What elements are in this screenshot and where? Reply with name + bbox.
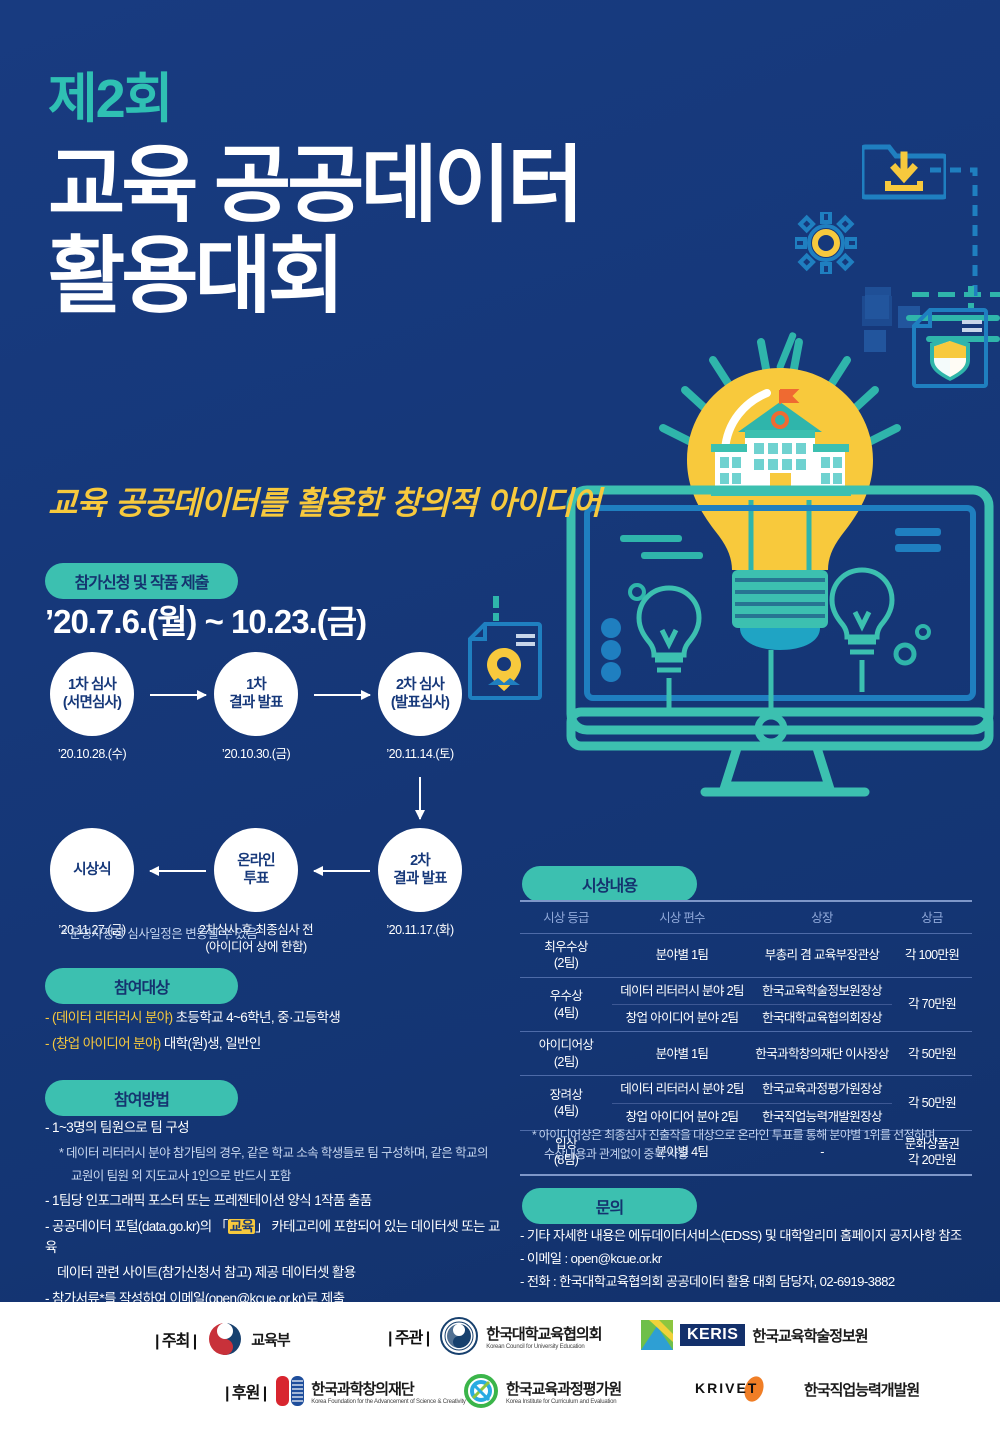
node-label-secondary: (서면심사) — [63, 694, 121, 712]
cell-grade: 최우수상 (2팀) — [520, 934, 612, 978]
contact-badge: 문의 — [522, 1188, 697, 1224]
schedule-node-6: 시상식 — [50, 828, 134, 912]
footer-row-2: | 후원 | 한국과학창의재단 Korea Foundation for the… — [225, 1374, 466, 1408]
table-row: 아이디어상 (2팀) 분야별 1팀 한국과학창의재단 이사장상 각 50만원 — [520, 1032, 972, 1076]
schedule-node-3: 2차 심사 (발표심사) — [378, 652, 462, 736]
schedule-node-2: 1차 결과 발표 — [214, 652, 298, 736]
eligibility-list: - (데이터 리터러시 분야) 초등학교 4~6학년, 중·고등학생 - (창업… — [45, 1008, 495, 1060]
footer-row-1-keris: KERIS 한국교육학술정보원 — [641, 1320, 868, 1350]
arrow-left-2 — [150, 870, 206, 872]
lightbulb-with-school-illustration — [565, 330, 995, 800]
cell-certificate: 한국대학교육협의회장상 — [752, 1005, 892, 1032]
schedule-date-3: ’20.11.14.(토) — [345, 746, 495, 763]
eligibility-rest-1: 대학(원)생, 일반인 — [161, 1036, 261, 1051]
cell-prize: 각 70만원 — [892, 977, 972, 1032]
arrow-down-1 — [419, 777, 421, 819]
list-item: 데이터 관련 사이트(참가신청서 참고) 제공 데이터셋 활용 — [45, 1263, 500, 1284]
column-header-count: 시상 편수 — [612, 901, 752, 934]
list-item-phone[interactable]: - 전화 : 한국대학교육협의회 공공데이터 활용 대회 담당자, 02-691… — [520, 1270, 962, 1293]
awards-note: * 아이디어상은 최종심사 진출작을 대상으로 온라인 투표를 통해 분야별 1… — [532, 1126, 938, 1164]
footer-org-name: 한국직업능력개발원 — [804, 1379, 919, 1400]
keris-logo: KERIS 한국교육학술정보원 — [641, 1320, 868, 1350]
footer-org-sub: Korea Foundation for the Advancement of … — [311, 1399, 465, 1405]
cell-count: 데이터 리터러시 분야 2팀 — [612, 1076, 752, 1103]
footer-row-2-kice: 한국교육과정평가원 Korea Institute for Curriculum… — [463, 1374, 621, 1408]
highlight-keyword: 교육 — [228, 1219, 256, 1234]
kcue-seal-logo: 한국대학교육협의회 Korean Council for University … — [439, 1316, 601, 1356]
table-row: 장려상 (4팀) 데이터 리터러시 분야 2팀 한국교육과정평가원장상 각 50… — [520, 1076, 972, 1103]
footer-role-organizer: | 주관 | — [388, 1324, 429, 1348]
page-title: 교육 공공데이터 활용대회 — [48, 140, 580, 321]
list-item: - (창업 아이디어 분야) 대학(원)생, 일반인 — [45, 1034, 495, 1055]
awards-note-line-1: * 아이디어상은 최종심사 진출작을 대상으로 온라인 투표를 통해 분야별 1… — [532, 1126, 938, 1145]
cell-prize: 각 50만원 — [892, 1076, 972, 1131]
eligibility-badge: 참여대상 — [45, 968, 238, 1004]
contact-list: - 기타 자세한 내용은 에듀데이터서비스(EDSS) 및 대학알리미 홈페이지… — [520, 1224, 962, 1293]
node-label-primary: 2차 심사 — [396, 676, 444, 694]
arrow-right-1 — [150, 694, 206, 696]
node-label-primary: 시상식 — [73, 861, 111, 879]
keris-mark-icon — [641, 1320, 673, 1350]
eligibility-rest-0: 초등학교 4~6학년, 중·고등학생 — [173, 1010, 341, 1025]
schedule-node-4: 2차 결과 발표 — [378, 828, 462, 912]
schedule-note: * 운영사정상 심사일정은 변동될 수 있음 — [62, 923, 257, 942]
krivet-wordmark: KRIVET — [695, 1377, 805, 1401]
schedule-node-1: 1차 심사 (서면심사) — [50, 652, 134, 736]
eligibility-field-0: - (데이터 리터러시 분야) — [45, 1010, 173, 1025]
table-row: 최우수상 (2팀) 분야별 1팀 부총리 겸 교육부장관상 각 100만원 — [520, 934, 972, 978]
keris-wordmark: KERIS — [680, 1324, 745, 1346]
footer-role-host: | 주최 | — [155, 1327, 196, 1351]
kcue-seal-icon — [439, 1316, 479, 1356]
footer-row-1-kcue: | 주관 | 한국대학교육협의회 Korean Council for Univ… — [388, 1316, 602, 1356]
submission-badge: 참가신청 및 작품 제출 — [45, 563, 238, 599]
table-header-row: 시상 등급 시상 편수 상장 상금 — [520, 901, 972, 934]
cell-prize: 각 100만원 — [892, 934, 972, 978]
footer-org-text: 한국과학창의재단 Korea Foundation for the Advanc… — [311, 1378, 465, 1405]
list-item-sub: * 데이터 리터러시 분야 참가팀의 경우, 같은 학교 소속 학생들로 팀 구… — [45, 1144, 500, 1163]
krivet-text: KRIVET — [695, 1380, 758, 1396]
footer-org-sub: Korea Institute for Curriculum and Evalu… — [506, 1399, 621, 1405]
footer-org-name: 한국대학교육협의회 — [486, 1323, 601, 1344]
howto-text-prefix: - 공공데이터 포털(data.go.kr)의 「 — [45, 1219, 228, 1234]
list-item: - 1~3명의 팀원으로 팀 구성 — [45, 1118, 500, 1139]
schedule-flowchart: 1차 심사 (서면심사) ’20.10.28.(수) 1차 결과 발표 ’20.… — [30, 632, 490, 912]
cell-certificate: 한국과학창의재단 이사장상 — [752, 1032, 892, 1076]
cell-grade: 장려상 (4팀) — [520, 1076, 612, 1131]
footer-org-name: 한국과학창의재단 — [311, 1378, 465, 1399]
footer-org-sub: Korean Council for University Education — [486, 1344, 601, 1350]
korea-gov-taegeuk-logo: 교육부 — [206, 1320, 289, 1358]
footer-org-name: 한국교육학술정보원 — [752, 1325, 867, 1346]
footer-band: | 주최 | 교육부 | 주관 | 한국대학교육협의회 — [0, 1302, 1000, 1429]
schedule-node-5: 온라인 투표 — [214, 828, 298, 912]
footer-org-text: 한국교육과정평가원 Korea Institute for Curriculum… — [506, 1378, 621, 1405]
node-label-primary: 2차 — [410, 852, 430, 870]
node-label-primary: 1차 — [246, 676, 266, 694]
footer-row-1: | 주최 | 교육부 — [155, 1320, 290, 1358]
awards-note-line-2: 수상내용과 관계없이 중복 시상 — [532, 1145, 938, 1164]
kofac-mark-icon — [276, 1374, 304, 1408]
node-label-primary: 온라인 — [237, 852, 275, 870]
footer-org-text: 한국대학교육협의회 Korean Council for University … — [486, 1323, 601, 1350]
folder-download-icon — [862, 135, 946, 200]
footer-org-name: 한국교육과정평가원 — [506, 1378, 621, 1399]
column-header-certificate: 상장 — [752, 901, 892, 934]
cell-certificate: 한국교육학술정보원장상 — [752, 977, 892, 1004]
node-label-secondary: (발표심사) — [391, 694, 449, 712]
list-item-email[interactable]: - 이메일 : open@kcue.or.kr — [520, 1247, 962, 1270]
arrow-left-1 — [314, 870, 370, 872]
slogan-text: 교육 공공데이터를 활용한 창의적 아이디어 — [48, 478, 600, 524]
cell-certificate: 한국교육과정평가원장상 — [752, 1076, 892, 1103]
title-line-1: 교육 공공데이터 — [48, 140, 580, 231]
list-item: - 1팀당 인포그래픽 포스터 또는 프레젠테이션 양식 1작품 출품 — [45, 1191, 500, 1212]
node-label-primary: 1차 심사 — [68, 676, 116, 694]
list-item: - (데이터 리터러시 분야) 초등학교 4~6학년, 중·고등학생 — [45, 1008, 495, 1029]
taegeuk-icon — [206, 1320, 244, 1358]
kice-mark-icon — [463, 1374, 499, 1408]
ordinal-label: 제2회 — [48, 72, 580, 126]
node-label-secondary: 결과 발표 — [393, 870, 446, 888]
list-item: - 기타 자세한 내용은 에듀데이터서비스(EDSS) 및 대학알리미 홈페이지… — [520, 1224, 962, 1247]
list-item-sub: 교원이 팀원 외 지도교사 1인으로 반드시 포함 — [45, 1167, 500, 1186]
title-line-2: 활용대회 — [48, 231, 580, 322]
list-item-highlighted: - 공공데이터 포털(data.go.kr)의 「교육」 카테고리에 포함되어 … — [45, 1217, 500, 1259]
schedule-date-2: ’20.10.30.(금) — [181, 746, 331, 763]
awards-badge: 시상내용 — [522, 866, 697, 902]
poster-root: 제2회 교육 공공데이터 활용대회 교육 공공데이터를 활용한 창의적 아이디어… — [0, 0, 1000, 1429]
cell-count: 데이터 리터러시 분야 2팀 — [612, 977, 752, 1004]
cell-count: 분야별 1팀 — [612, 1032, 752, 1076]
kice-logo: 한국교육과정평가원 Korea Institute for Curriculum… — [463, 1374, 621, 1408]
arrow-right-2 — [314, 694, 370, 696]
footer-org-name: 교육부 — [251, 1329, 289, 1350]
kofac-logo: 한국과학창의재단 Korea Foundation for the Advanc… — [276, 1374, 465, 1408]
cell-count: 분야별 1팀 — [612, 934, 752, 978]
table-row: 우수상 (4팀) 데이터 리터러시 분야 2팀 한국교육학술정보원장상 각 70… — [520, 977, 972, 1004]
schedule-date-4: ’20.11.17.(화) — [345, 922, 495, 939]
cell-count: 창업 아이디어 분야 2팀 — [612, 1005, 752, 1032]
cell-grade: 아이디어상 (2팀) — [520, 1032, 612, 1076]
eligibility-field-1: - (창업 아이디어 분야) — [45, 1036, 161, 1051]
document-shield-icon — [912, 308, 988, 388]
gear-icon — [795, 212, 857, 274]
cell-certificate: 부총리 겸 교육부장관상 — [752, 934, 892, 978]
cell-prize: 각 50만원 — [892, 1032, 972, 1076]
column-header-prize: 상금 — [892, 901, 972, 934]
howto-badge: 참여방법 — [45, 1080, 238, 1116]
schedule-date-1: ’20.10.28.(수) — [17, 746, 167, 763]
footer-row-2-krivet: KRIVET 한국직업능력개발원 — [695, 1377, 919, 1401]
poster-header: 제2회 교육 공공데이터 활용대회 — [48, 72, 580, 321]
krivet-logo: KRIVET 한국직업능력개발원 — [695, 1377, 919, 1401]
footer-role-sponsor: | 후원 | — [225, 1379, 266, 1403]
cell-grade: 우수상 (4팀) — [520, 977, 612, 1032]
node-label-secondary: 결과 발표 — [229, 694, 282, 712]
column-header-grade: 시상 등급 — [520, 901, 612, 934]
node-label-secondary: 투표 — [243, 870, 268, 888]
